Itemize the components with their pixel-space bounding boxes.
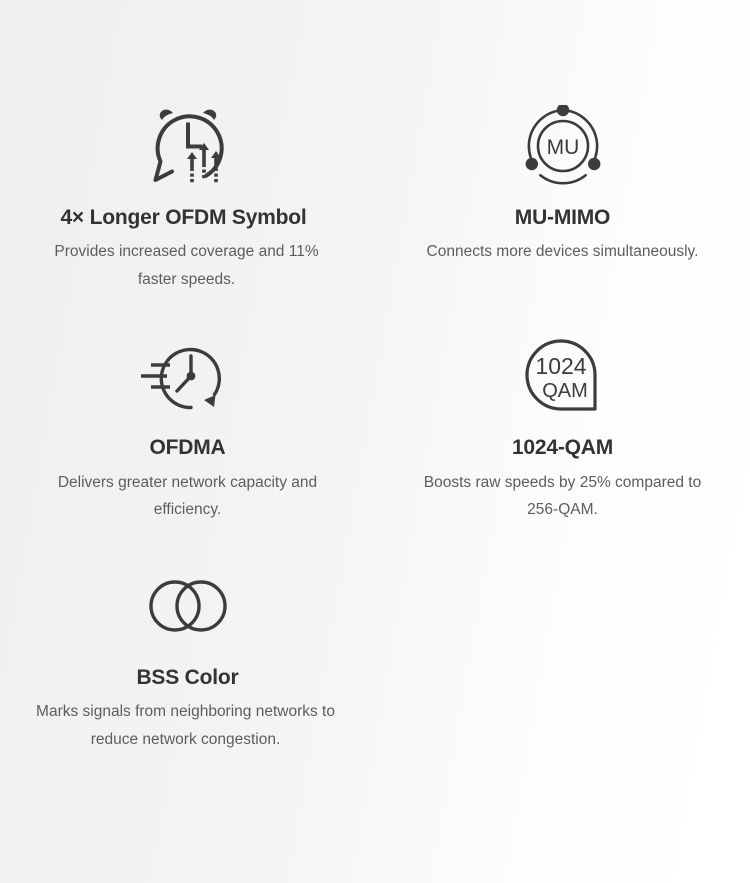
qam-icon-label-unit: QAM [542, 380, 588, 402]
feature-description: Delivers greater network capacity and ef… [38, 469, 338, 524]
features-grid: 4× Longer OFDM Symbol Provides increased… [0, 0, 750, 753]
feature-description: Marks signals from neighboring networks … [26, 698, 346, 753]
feature-card-mu-mimo: MU MU-MIMO Connects more devices simulta… [375, 0, 750, 293]
speed-clock-icon [136, 328, 240, 424]
qam-icon-label-value: 1024 [535, 353, 586, 379]
feature-card-1024-qam: 1024 QAM 1024-QAM Boosts raw speeds by 2… [375, 293, 750, 523]
feature-card-ofdm-symbol: 4× Longer OFDM Symbol Provides increased… [0, 0, 375, 293]
feature-title: 4× Longer OFDM Symbol [60, 205, 306, 231]
features-page: 4× Longer OFDM Symbol Provides increased… [0, 0, 750, 883]
feature-description: Connects more devices simultaneously. [427, 238, 699, 266]
feature-card-ofdma: OFDMA Delivers greater network capacity … [0, 293, 375, 523]
feature-title: BSS Color [136, 665, 238, 691]
overlapping-circles-icon [147, 558, 229, 654]
feature-description: Provides increased coverage and 11% fast… [37, 238, 337, 293]
feature-description: Boosts raw speeds by 25% compared to 256… [413, 469, 713, 524]
feature-card-bss-color: BSS Color Marks signals from neighboring… [0, 524, 375, 753]
feature-title: MU-MIMO [515, 205, 610, 231]
mu-mimo-network-icon: MU [522, 98, 604, 194]
qam-bubble-icon: 1024 QAM [523, 328, 603, 424]
mu-icon-label: MU [546, 136, 579, 159]
alarm-clock-arrows-icon [142, 98, 234, 194]
feature-title: 1024-QAM [512, 435, 613, 461]
empty-grid-cell [375, 524, 750, 753]
feature-title: OFDMA [150, 435, 226, 461]
